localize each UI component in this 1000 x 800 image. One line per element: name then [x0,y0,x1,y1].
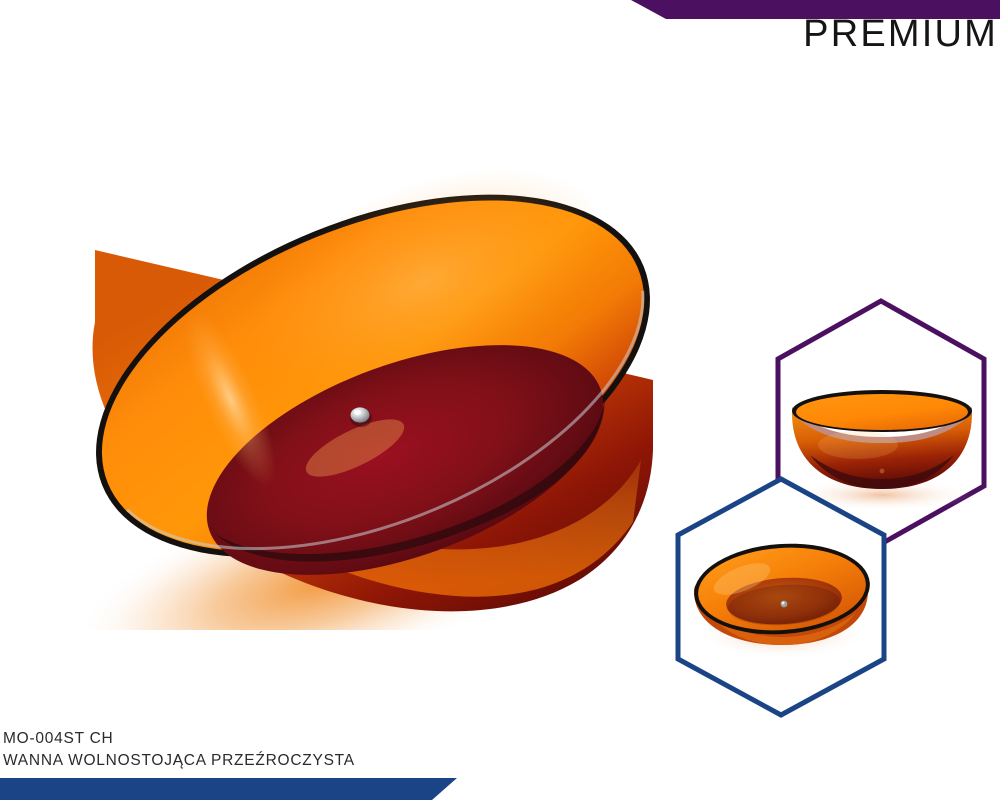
product-caption: MO-004ST CH WANNA WOLNOSTOJĄCA PRZEŹROCZ… [3,728,355,772]
thumbnail-hexagon-top-view[interactable] [670,473,892,721]
hero-product-image [55,130,695,630]
product-sheet-page: PREMIUM [0,0,1000,800]
product-description: WANNA WOLNOSTOJĄCA PRZEŹROCZYSTA [3,750,355,772]
footer-bar [0,778,1000,800]
product-code: MO-004ST CH [3,728,355,750]
premium-label: PREMIUM [803,14,998,54]
